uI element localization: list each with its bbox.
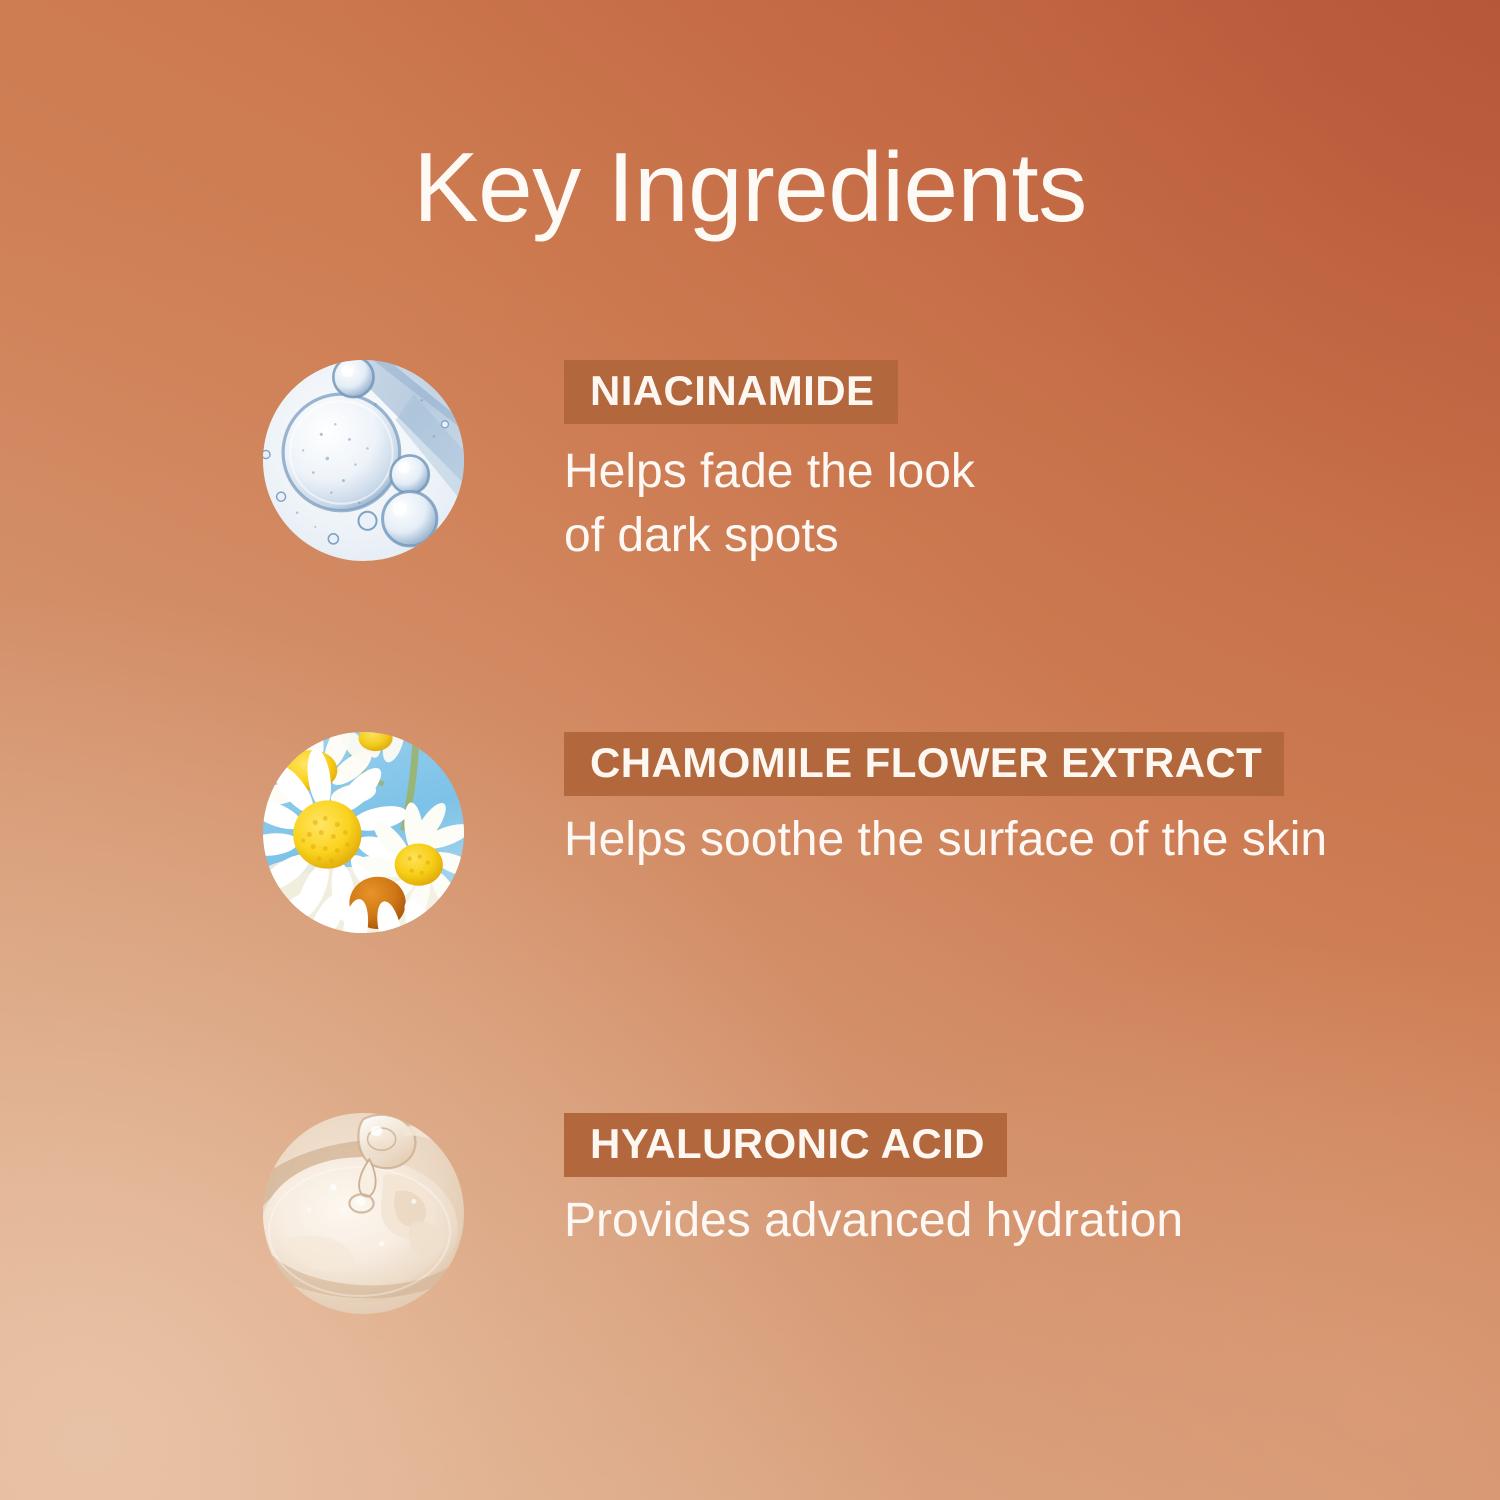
key-ingredients-poster: Key Ingredients	[0, 0, 1500, 1500]
ingredient-description: Helps fade the look of dark spots	[564, 440, 975, 568]
serum-bubbles-macro-photo	[263, 360, 464, 561]
ingredient-name-badge: CHAMOMILE FLOWER EXTRACT	[564, 732, 1284, 796]
ingredient-description: Provides advanced hydration	[564, 1189, 1183, 1253]
ingredient-content-hyaluronic-acid: HYALURONIC ACID Provides advanced hydrat…	[564, 1113, 1183, 1253]
ingredient-description: Helps soothe the surface of the skin	[564, 808, 1327, 872]
clear-gel-droplet-photo	[263, 1113, 464, 1314]
chamomile-flowers-photo	[263, 732, 464, 933]
ingredient-content-niacinamide: NIACINAMIDE Helps fade the look of dark …	[564, 360, 975, 568]
ingredient-content-chamomile: CHAMOMILE FLOWER EXTRACT Helps soothe th…	[564, 732, 1327, 872]
ingredient-name-badge: HYALURONIC ACID	[564, 1113, 1007, 1177]
page-title: Key Ingredients	[0, 136, 1500, 239]
ingredient-name-badge: NIACINAMIDE	[564, 360, 898, 424]
